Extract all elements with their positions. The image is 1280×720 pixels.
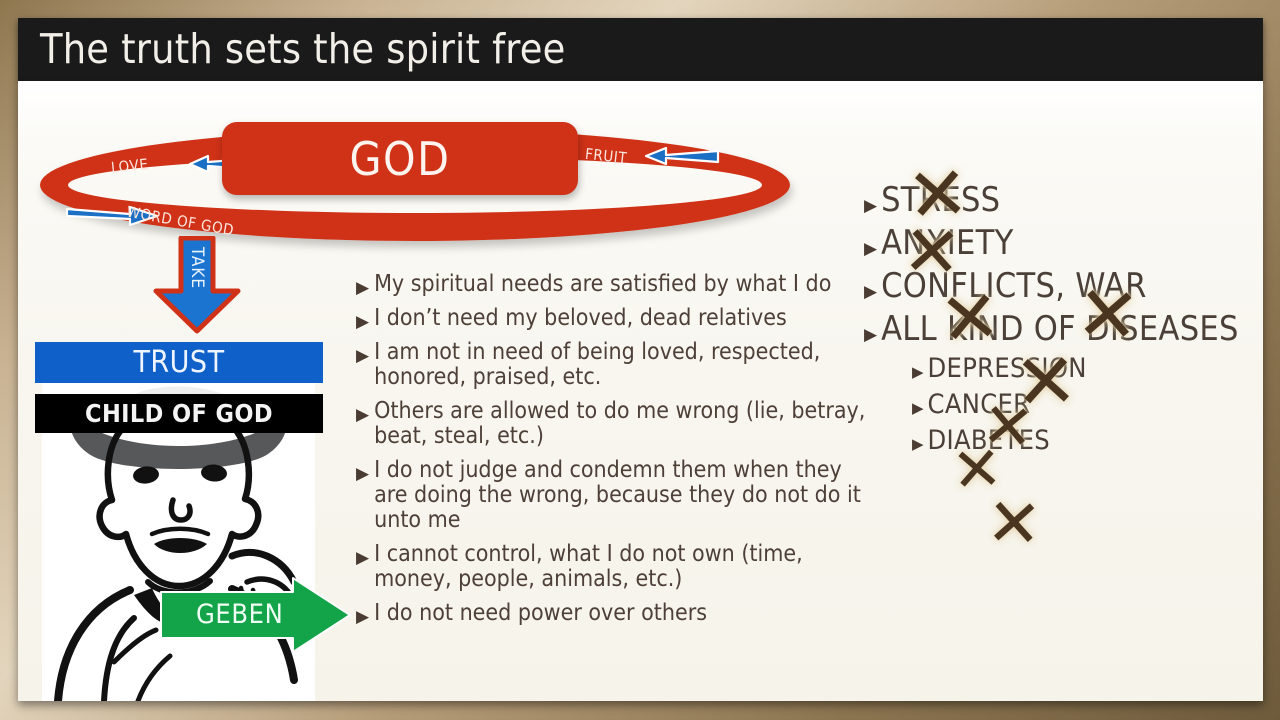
x-cross-out-icon: ✕ (985, 490, 1044, 559)
god-box: GOD (222, 122, 578, 195)
statement-text: Others are allowed to do me wrong (lie, … (374, 399, 871, 449)
statement-text: I do not need power over others (374, 601, 707, 626)
triangle-bullet-icon: ▶ (864, 239, 877, 259)
statement-item: ▶I am not in need of being loved, respec… (356, 340, 871, 390)
triangle-bullet-icon: ▶ (356, 406, 369, 423)
geben-arrow-icon (158, 576, 353, 654)
statement-text: I don’t need my beloved, dead relatives (374, 306, 787, 331)
triangle-bullet-icon: ▶ (356, 465, 369, 482)
statement-item: ▶I don’t need my beloved, dead relatives (356, 306, 871, 331)
slide-title-bar: The truth sets the spirit free (18, 18, 1263, 81)
trouble-item: ▶ALL KIND OF DISEASES (864, 310, 1244, 348)
trouble-sub-item: ▶DEPRESSION (912, 353, 1244, 384)
trouble-text: ANXIETY (881, 224, 1014, 262)
take-arrow: TAKE (150, 236, 244, 334)
triangle-bullet-icon: ▶ (864, 282, 877, 302)
statement-item: ▶My spiritual needs are satisfied by wha… (356, 272, 871, 297)
trouble-text: CANCER (928, 389, 1031, 420)
triangle-bullet-icon: ▶ (864, 325, 877, 345)
child-of-god-label: CHILD OF GOD (85, 399, 273, 428)
slide-canvas: LOVE WORD OF GOD FRUIT GOD (18, 81, 1263, 701)
slide-frame: The truth sets the spirit free LOVE WORD… (0, 0, 1280, 720)
take-arrow-icon (150, 236, 244, 334)
trouble-text: CONFLICTS, WAR (881, 267, 1147, 305)
trust-banner: TRUST (35, 342, 323, 383)
triangle-bullet-icon: ▶ (356, 279, 369, 296)
trouble-item: ▶ANXIETY (864, 224, 1244, 262)
statement-text: My spiritual needs are satisfied by what… (374, 272, 831, 297)
statement-item: ▶I do not judge and condemn them when th… (356, 458, 871, 533)
trouble-text: DIABETES (928, 425, 1051, 456)
trouble-text: STRESS (881, 181, 1000, 219)
geben-arrow: GEBEN (158, 576, 353, 654)
page-title: The truth sets the spirit free (40, 25, 566, 73)
triangle-bullet-icon: ▶ (912, 435, 924, 453)
statement-text: I do not judge and condemn them when the… (374, 458, 871, 533)
statement-item: ▶I do not need power over others (356, 601, 871, 626)
trouble-item: ▶CONFLICTS, WAR (864, 267, 1244, 305)
triangle-bullet-icon: ▶ (912, 399, 924, 417)
trouble-text: DEPRESSION (928, 353, 1087, 384)
statement-item: ▶I cannot control, what I do not own (ti… (356, 542, 871, 592)
fruit-arrow-icon (630, 139, 722, 169)
trouble-item: ▶STRESS (864, 181, 1244, 219)
statement-text: I cannot control, what I do not own (tim… (374, 542, 871, 592)
troubles-list: ▶STRESS▶ANXIETY▶CONFLICTS, WAR▶ALL KIND … (864, 181, 1244, 461)
trouble-sub-item: ▶CANCER (912, 389, 1244, 420)
trust-label: TRUST (133, 345, 224, 380)
god-cycle-diagram: LOVE WORD OF GOD FRUIT GOD (18, 81, 808, 281)
triangle-bullet-icon: ▶ (864, 196, 877, 216)
triangle-bullet-icon: ▶ (356, 347, 369, 364)
triangle-bullet-icon: ▶ (356, 549, 369, 566)
triangle-bullet-icon: ▶ (356, 608, 369, 625)
trouble-text: ALL KIND OF DISEASES (881, 310, 1239, 348)
trouble-sub-item: ▶DIABETES (912, 425, 1244, 456)
statement-item: ▶Others are allowed to do me wrong (lie,… (356, 399, 871, 449)
triangle-bullet-icon: ▶ (912, 363, 924, 381)
child-of-god-banner: CHILD OF GOD (35, 394, 323, 433)
triangle-bullet-icon: ▶ (356, 313, 369, 330)
statement-text: I am not in need of being loved, respect… (374, 340, 871, 390)
statements-list: ▶My spiritual needs are satisfied by wha… (356, 272, 871, 635)
god-label: GOD (349, 132, 450, 186)
